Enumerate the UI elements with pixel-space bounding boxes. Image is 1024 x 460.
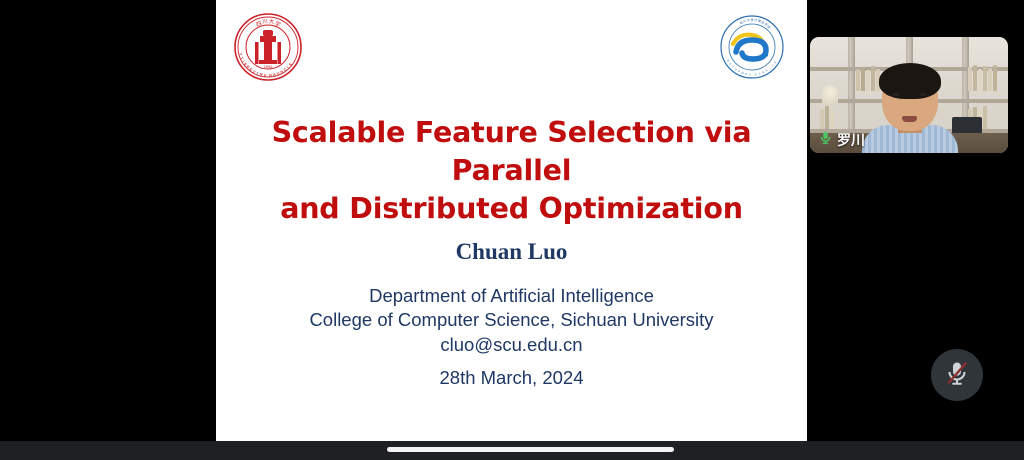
author-email: cluo@scu.edu.cn	[224, 333, 799, 357]
home-indicator[interactable]	[387, 447, 674, 452]
affiliation-line-2: College of Computer Science, Sichuan Uni…	[224, 308, 799, 332]
participant-video-tile[interactable]: 罗川	[810, 37, 1008, 153]
screen-share-viewport: 1896 四 川 大 学 S I C H U A N U N I	[0, 0, 1024, 460]
participant-name-badge: 罗川	[816, 131, 869, 149]
slide-date: 28th March, 2024	[224, 366, 799, 390]
svg-text:I: I	[286, 66, 289, 70]
system-bottom-bar	[0, 441, 1024, 460]
slide-title-line-2: and Distributed Optimization	[224, 190, 799, 228]
college-of-computer-science-seal-icon: 四 川 大 学 计 算 机 学 院 S C I E N C E	[719, 14, 785, 80]
microphone-muted-icon	[943, 359, 971, 392]
svg-text:学: 学	[274, 19, 283, 29]
mute-toggle-button[interactable]	[931, 349, 983, 401]
svg-text:1896: 1896	[264, 64, 274, 69]
slide-affiliation: Department of Artificial Intelligence Co…	[224, 284, 799, 357]
slide-title-line-1: Scalable Feature Selection via Parallel	[272, 116, 752, 187]
slide-author: Chuan Luo	[224, 238, 799, 266]
sichuan-university-seal-icon: 1896 四 川 大 学 S I C H U A N U N I	[233, 12, 303, 82]
participant-name: 罗川	[837, 130, 865, 150]
svg-text:N: N	[269, 73, 272, 77]
slide-title: Scalable Feature Selection via Parallel …	[224, 114, 799, 228]
affiliation-line-1: Department of Artificial Intelligence	[224, 284, 799, 308]
svg-text:川: 川	[262, 19, 268, 26]
microphone-on-icon	[818, 130, 833, 150]
shared-presentation-slide[interactable]: 1896 四 川 大 学 S I C H U A N U N I	[216, 0, 807, 441]
